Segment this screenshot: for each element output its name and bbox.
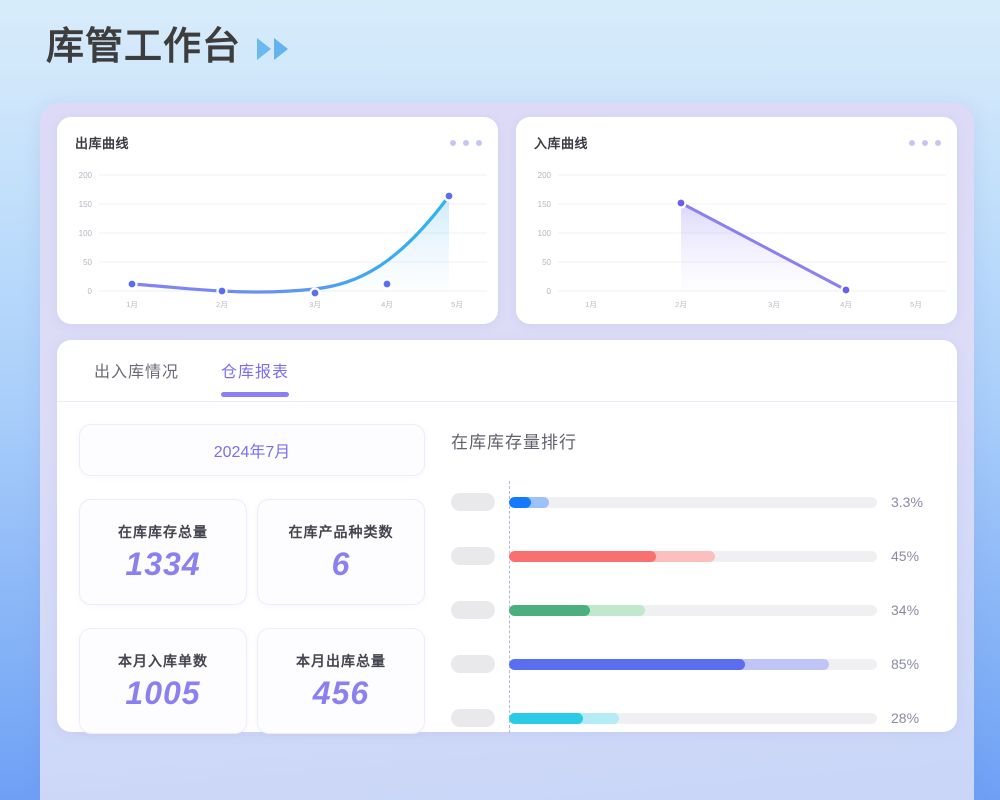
ranking-bar-fill — [509, 605, 590, 616]
ranking-bar-fill — [509, 497, 531, 508]
ranking-bar-fill — [509, 713, 583, 724]
inbound-chart-header: 入库曲线 — [534, 133, 941, 152]
month-card[interactable]: 2024年7月 — [79, 424, 425, 476]
report-card: 出入库情况 仓库报表 2024年7月 在库库存总量 1334 在库产品种类数 6… — [57, 340, 957, 732]
ranking-percent: 85% — [877, 656, 935, 672]
svg-text:100: 100 — [79, 229, 93, 238]
chevron-right-icon-2 — [274, 38, 288, 60]
svg-text:200: 200 — [538, 171, 552, 180]
stat-value: 1334 — [125, 548, 200, 582]
stat-label: 在库产品种类数 — [289, 522, 394, 542]
svg-text:1月: 1月 — [126, 300, 138, 309]
stat-value: 456 — [313, 677, 369, 711]
stat-value: 1005 — [125, 677, 200, 711]
ranking-label-placeholder — [451, 493, 495, 511]
svg-text:1月: 1月 — [585, 300, 597, 309]
ranking-list: 3.3% 45% — [451, 475, 935, 745]
svg-text:50: 50 — [83, 258, 92, 267]
stat-card-product-types[interactable]: 在库产品种类数 6 — [257, 499, 425, 605]
svg-text:5月: 5月 — [451, 300, 463, 309]
svg-text:0: 0 — [547, 287, 552, 296]
inbound-chart-plot: 200 150 100 50 0 1月 2月 — [516, 161, 957, 324]
more-dots-icon[interactable] — [909, 140, 941, 146]
stat-card-inbound-orders[interactable]: 本月入库单数 1005 — [79, 628, 247, 734]
ranking-label-placeholder — [451, 601, 495, 619]
svg-text:0: 0 — [88, 287, 93, 296]
ranking-label-placeholder — [451, 547, 495, 565]
stat-label: 本月出库总量 — [296, 651, 386, 671]
svg-text:4月: 4月 — [381, 300, 393, 309]
outbound-chart-plot: 200 150 100 50 0 — [57, 161, 498, 324]
report-body: 2024年7月 在库库存总量 1334 在库产品种类数 6 本月入库单数 100… — [57, 402, 957, 745]
svg-text:5月: 5月 — [910, 300, 922, 309]
tab-warehouse-report[interactable]: 仓库报表 — [221, 358, 289, 384]
svg-text:100: 100 — [538, 229, 552, 238]
ranking-section: 在库库存量排行 3.3% — [425, 424, 935, 745]
dashboard-panel: 出库曲线 — [40, 103, 974, 800]
outbound-line-chart-svg: 200 150 100 50 0 — [57, 161, 498, 324]
ranking-bar-track — [509, 659, 877, 670]
ranking-label-placeholder — [451, 655, 495, 673]
stat-card-outbound-total[interactable]: 本月出库总量 456 — [257, 628, 425, 734]
chevron-right-icon-1 — [257, 38, 271, 60]
stat-label: 本月入库单数 — [118, 651, 208, 671]
inbound-line-chart-svg: 200 150 100 50 0 1月 2月 — [516, 161, 957, 324]
charts-row: 出库曲线 — [57, 117, 957, 327]
svg-text:3月: 3月 — [768, 300, 780, 309]
report-tabs: 出入库情况 仓库报表 — [57, 340, 957, 402]
ranking-row[interactable]: 28% — [451, 691, 935, 745]
more-dots-icon[interactable] — [450, 140, 482, 146]
svg-text:4月: 4月 — [840, 300, 852, 309]
double-chevron-right-icon — [257, 38, 288, 60]
stats-grid: 2024年7月 在库库存总量 1334 在库产品种类数 6 本月入库单数 100… — [79, 424, 425, 745]
ranking-bar-track — [509, 551, 877, 562]
outbound-chart-card: 出库曲线 — [57, 117, 498, 324]
stat-label: 在库库存总量 — [118, 522, 208, 542]
ranking-bar-fill — [509, 659, 745, 670]
ranking-title: 在库库存量排行 — [451, 428, 935, 453]
ranking-row[interactable]: 85% — [451, 637, 935, 691]
inbound-chart-title: 入库曲线 — [534, 133, 588, 152]
ranking-percent: 28% — [877, 710, 935, 726]
ranking-row[interactable]: 3.3% — [451, 475, 935, 529]
svg-text:2月: 2月 — [675, 300, 687, 309]
ranking-label-placeholder — [451, 709, 495, 727]
svg-text:150: 150 — [538, 200, 552, 209]
svg-text:2月: 2月 — [216, 300, 228, 309]
outbound-chart-header: 出库曲线 — [75, 133, 482, 152]
ranking-bar-track — [509, 605, 877, 616]
ranking-bar-fill — [509, 551, 656, 562]
ranking-bar-track — [509, 713, 877, 724]
ranking-row[interactable]: 34% — [451, 583, 935, 637]
svg-text:150: 150 — [79, 200, 93, 209]
outbound-chart-title: 出库曲线 — [75, 133, 129, 152]
tab-inout-status[interactable]: 出入库情况 — [94, 358, 179, 384]
stat-card-total-stock[interactable]: 在库库存总量 1334 — [79, 499, 247, 605]
ranking-percent: 45% — [877, 548, 935, 564]
stat-value: 6 — [332, 548, 351, 582]
svg-text:3月: 3月 — [309, 300, 321, 309]
page-header: 库管工作台 — [46, 28, 288, 66]
ranking-row[interactable]: 45% — [451, 529, 935, 583]
svg-text:200: 200 — [79, 171, 93, 180]
page-title: 库管工作台 — [46, 28, 241, 66]
ranking-percent: 34% — [877, 602, 935, 618]
ranking-bar-track — [509, 497, 877, 508]
month-label: 2024年7月 — [214, 438, 291, 462]
inbound-chart-card: 入库曲线 — [516, 117, 957, 324]
svg-text:50: 50 — [542, 258, 551, 267]
ranking-percent: 3.3% — [877, 494, 935, 510]
